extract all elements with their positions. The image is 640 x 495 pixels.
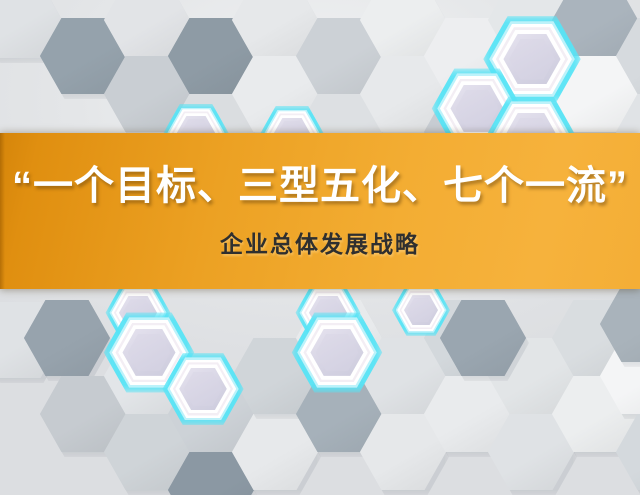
glowing-hexagon [396, 288, 446, 332]
glowing-hexagon [168, 358, 238, 420]
page-title: “一个目标、三型五化、七个一流” [12, 163, 628, 209]
glowing-hexagon [298, 318, 376, 387]
page-subtitle: 企业总体发展战略 [220, 225, 420, 259]
title-banner-text-group: “一个目标、三型五化、七个一流” 企业总体发展战略 [0, 133, 640, 289]
title-banner: “一个目标、三型五化、七个一流” 企业总体发展战略 [0, 133, 640, 289]
slide-canvas: “一个目标、三型五化、七个一流” 企业总体发展战略 [0, 0, 640, 495]
